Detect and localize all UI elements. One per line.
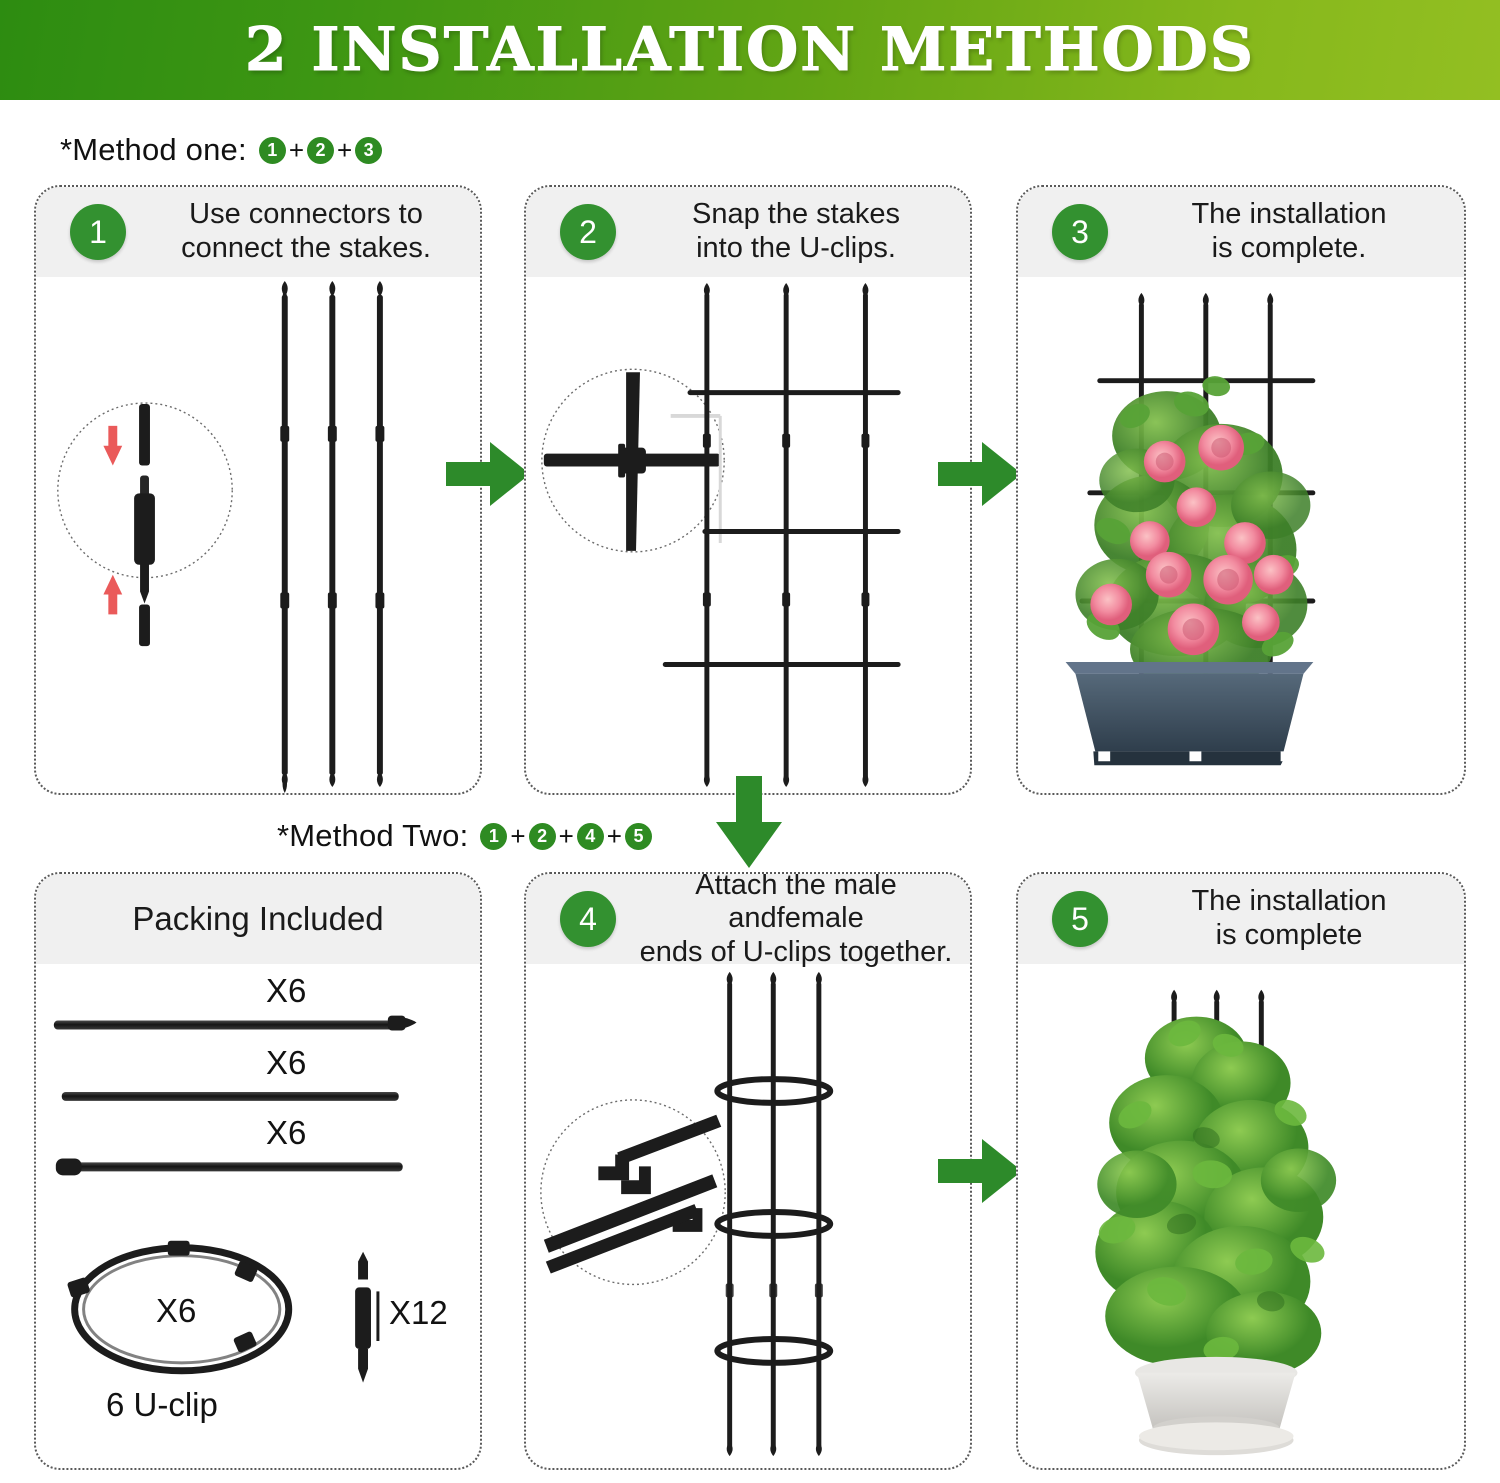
method-one-plus-1: +	[289, 135, 304, 166]
step-5-line1: The installation	[1128, 885, 1450, 919]
step-3-illustration	[1018, 277, 1464, 793]
step-5-header: 5 The installation is complete	[1018, 874, 1464, 964]
method-one-prefix: *Method one:	[60, 132, 247, 168]
packing-illustration: X6 X6 X6 X6 6 U-clip X12	[36, 964, 480, 1468]
method-one-badge-1: 1	[259, 137, 286, 164]
method-one-plus-2: +	[337, 135, 352, 166]
step-3-number: 3	[1052, 204, 1108, 260]
packing-header: Packing Included	[36, 874, 480, 964]
method-two-prefix: *Method Two:	[277, 818, 468, 854]
method-two-plus-3: +	[607, 821, 622, 852]
method-two-badge-2: 2	[529, 823, 556, 850]
step-3-text: The installation is complete.	[1128, 198, 1464, 265]
step-5-panel: 5 The installation is complete	[1016, 872, 1466, 1470]
step-4-number: 4	[560, 891, 616, 947]
step-2-header: 2 Snap the stakes into the U-clips.	[526, 187, 970, 277]
step-4-panel: 4 Attach the male andfemale ends of U-cl…	[524, 872, 972, 1470]
step-3-header: 3 The installation is complete.	[1018, 187, 1464, 277]
packing-caption-u-clip: 6 U-clip	[106, 1386, 218, 1424]
step-3-panel: 3 The installation is complete.	[1016, 185, 1466, 795]
method-one-label: *Method one: 1 + 2 + 3	[60, 132, 382, 168]
step-2-line2: into the U-clips.	[636, 232, 956, 266]
packing-count-connector-pin: X12	[389, 1294, 448, 1332]
packing-included-panel: Packing Included	[34, 872, 482, 1470]
step-2-illustration	[526, 277, 970, 793]
step-4-line1: Attach the male andfemale	[636, 872, 956, 936]
method-one-badge-3: 3	[355, 137, 382, 164]
arrow-step4-to-step5-icon	[934, 1125, 1026, 1217]
arrow-step1-to-step2-icon	[442, 428, 534, 520]
step-3-line1: The installation	[1128, 198, 1450, 232]
method-two-badge-5: 5	[625, 823, 652, 850]
step-3-line2: is complete.	[1128, 232, 1450, 266]
arrow-step2-to-step3-icon	[934, 428, 1026, 520]
method-two-plus-1: +	[510, 821, 525, 852]
step-2-line1: Snap the stakes	[636, 198, 956, 232]
page-title: 2 INSTALLATION METHODS	[245, 15, 1255, 85]
method-two-label: *Method Two: 1 + 2 + 4 + 5	[277, 818, 652, 854]
arrow-step2-to-step4-icon	[702, 772, 796, 872]
step-5-illustration	[1018, 964, 1464, 1468]
method-two-badge-4: 4	[577, 823, 604, 850]
step-2-text: Snap the stakes into the U-clips.	[636, 198, 970, 265]
step-5-number: 5	[1052, 891, 1108, 947]
step-1-line2: connect the stakes.	[146, 232, 466, 266]
step-4-text: Attach the male andfemale ends of U-clip…	[636, 872, 970, 969]
method-two-plus-2: +	[559, 821, 574, 852]
packing-count-middle-stake: X6	[266, 1044, 306, 1082]
packing-count-bottom-stake: X6	[266, 1114, 306, 1152]
step-1-panel: 1 Use connectors to connect the stakes.	[34, 185, 482, 795]
step-1-header: 1 Use connectors to connect the stakes.	[36, 187, 480, 277]
step-4-illustration	[526, 964, 970, 1468]
step-2-panel: 2 Snap the stakes into the U-clips.	[524, 185, 972, 795]
method-two-badge-1: 1	[480, 823, 507, 850]
header-banner: 2 INSTALLATION METHODS	[0, 0, 1500, 100]
step-5-line2: is complete	[1128, 919, 1450, 953]
step-1-illustration	[36, 277, 480, 793]
step-1-line1: Use connectors to	[146, 198, 466, 232]
step-4-header: 4 Attach the male andfemale ends of U-cl…	[526, 874, 970, 964]
step-1-text: Use connectors to connect the stakes.	[146, 198, 480, 265]
step-1-number: 1	[70, 204, 126, 260]
method-one-badge-2: 2	[307, 137, 334, 164]
packing-title: Packing Included	[36, 900, 480, 938]
step-5-text: The installation is complete	[1128, 885, 1464, 952]
step-2-number: 2	[560, 204, 616, 260]
packing-count-top-stake: X6	[266, 972, 306, 1010]
packing-count-u-clip: X6	[156, 1292, 196, 1330]
